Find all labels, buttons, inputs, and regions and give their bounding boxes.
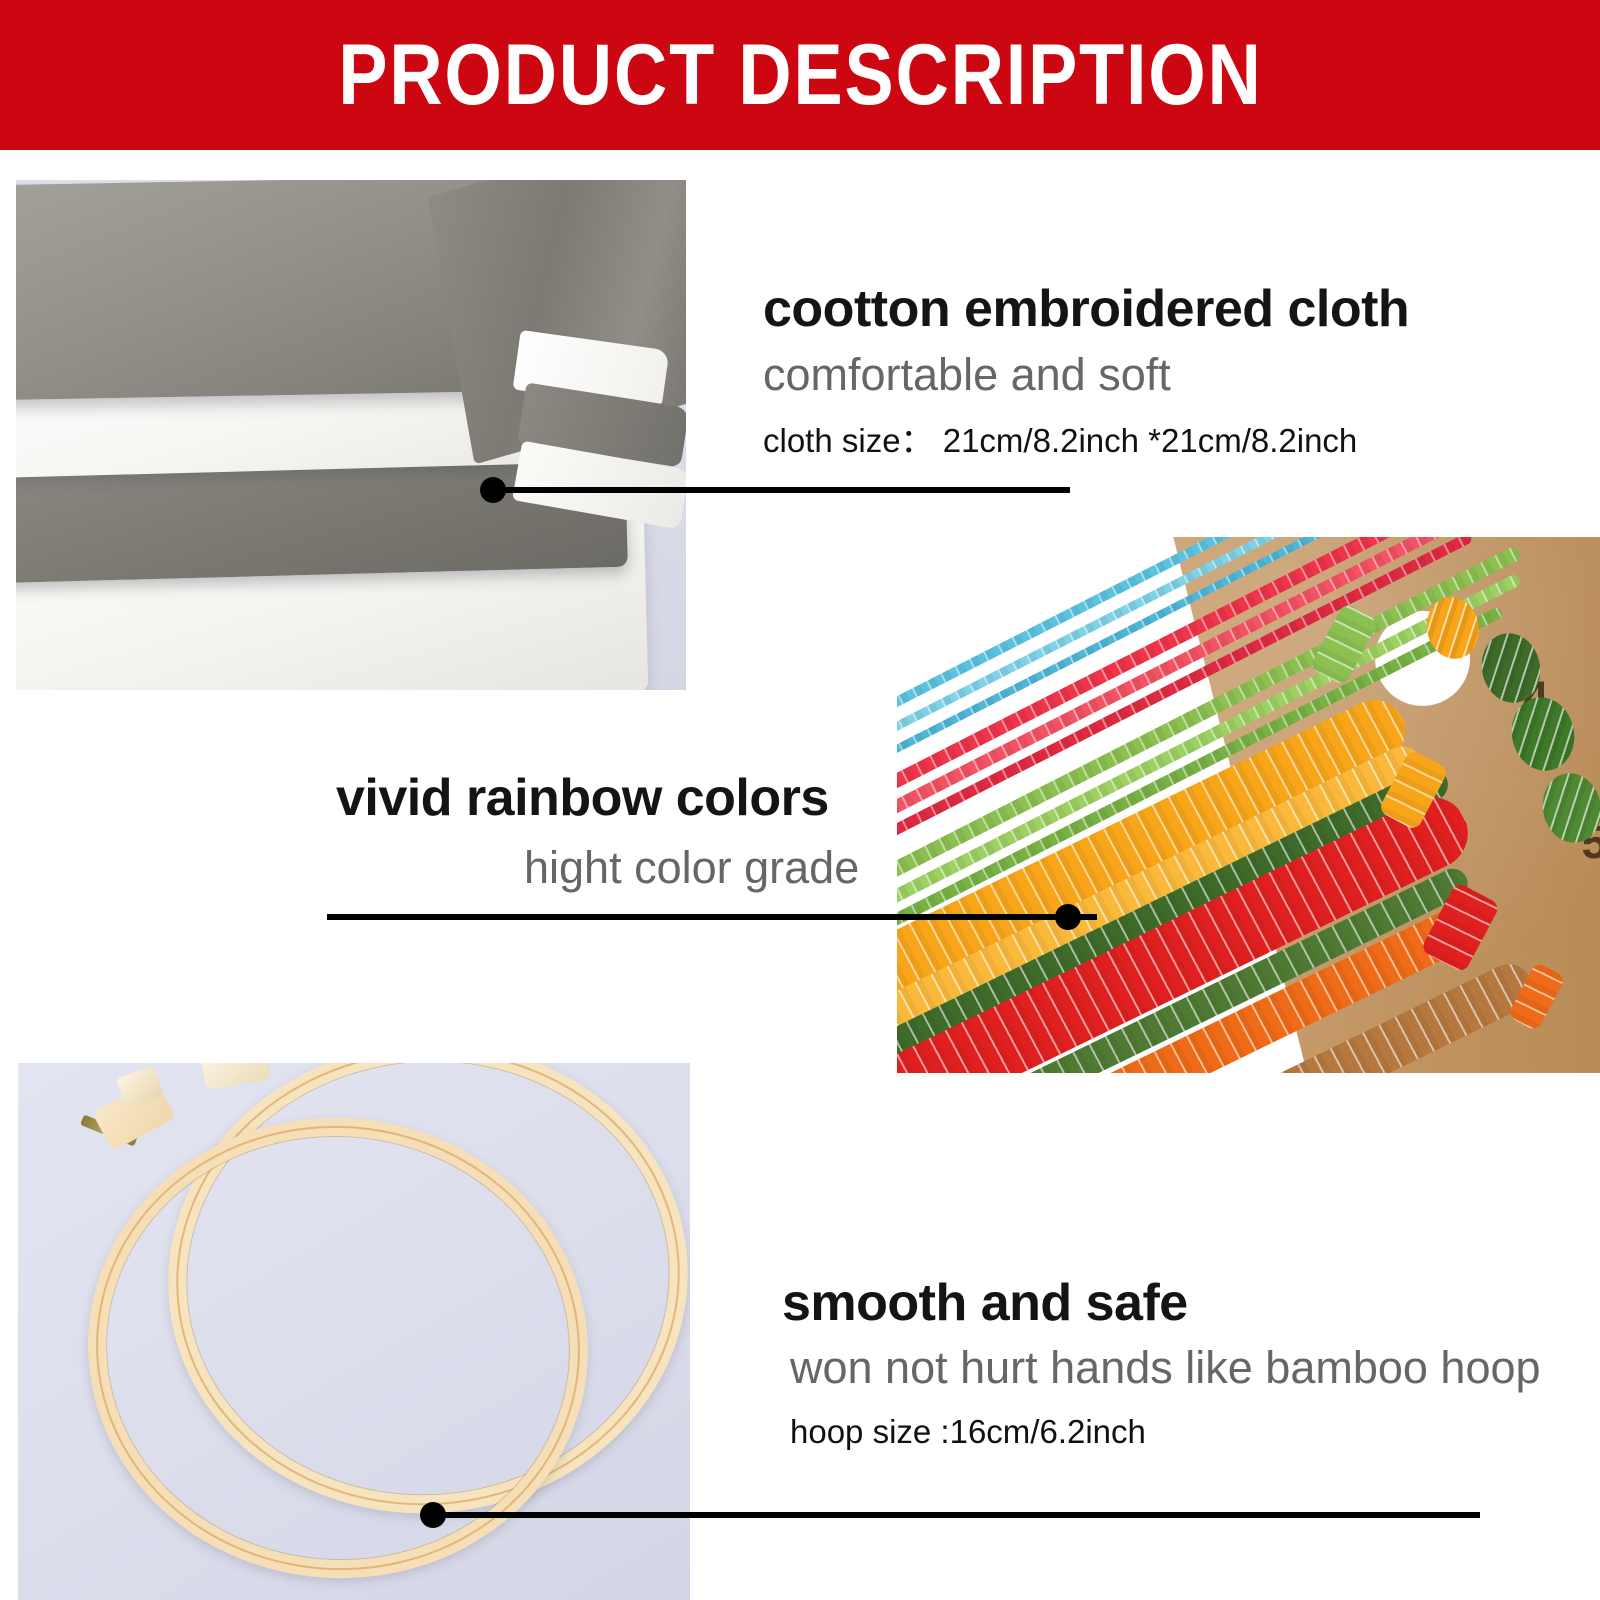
feature-3-subtitle: won not hurt hands like bamboo hoop [790,1345,1541,1390]
feature-1-spec: cloth size： 21cm/8.2inch *21cm/8.2inch [763,424,1357,457]
feature-1-subtitle: comfortable and soft [763,352,1171,397]
feature-3-connector-dot [420,1502,446,1528]
hoop-top-tab [201,1063,272,1090]
feature-3-title: smooth and safe [782,1277,1188,1329]
feature-2-title: vivid rainbow colors [336,772,829,824]
thread-photo: 4 5 [897,537,1600,1073]
feature-1-connector-line [498,487,1070,493]
feature-2-subtitle: hight color grade [524,845,859,890]
header-banner: PRODUCT DESCRIPTION [0,0,1600,150]
feature-2-connector-line [327,914,1097,920]
product-description-page: PRODUCT DESCRIPTION 4 5 [0,0,1600,1600]
page-title: PRODUCT DESCRIPTION [338,32,1262,118]
feature-1-title: cootton embroidered cloth [763,283,1409,335]
feature-1-connector-dot [480,477,506,503]
feature-3-spec: hoop size :16cm/6.2inch [790,1415,1146,1448]
cloth-photo [16,180,686,690]
feature-2-connector-dot [1055,904,1081,930]
hoop-photo [18,1063,690,1600]
feature-3-connector-line [430,1512,1480,1518]
